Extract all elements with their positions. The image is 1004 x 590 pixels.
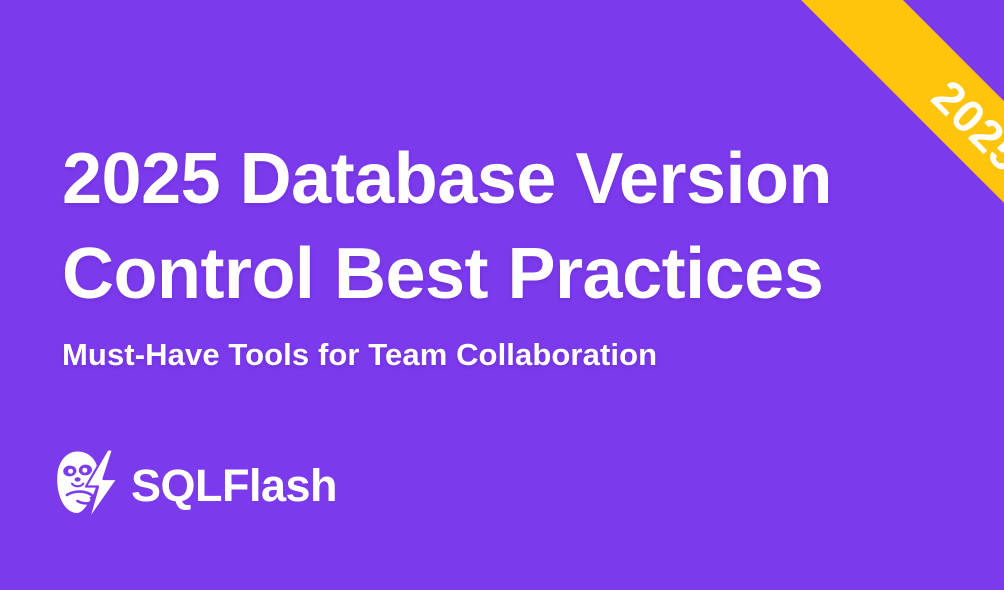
promo-banner: 2025 2025 Database Version Control Best … <box>0 0 1004 590</box>
brand-name: SQLFlash <box>131 463 337 508</box>
brand-logo: SQLFlash <box>55 448 337 522</box>
page-title-line-1: 2025 Database Version <box>62 132 922 227</box>
page-title: 2025 Database Version Control Best Pract… <box>62 132 922 322</box>
page-title-line-2: Control Best Practices <box>62 227 922 322</box>
headline-block: 2025 Database Version Control Best Pract… <box>62 132 922 373</box>
page-subtitle: Must-Have Tools for Team Collaboration <box>62 336 922 373</box>
sloth-lightning-icon <box>55 448 121 522</box>
corner-ribbon-label: 2025 <box>924 72 1004 180</box>
